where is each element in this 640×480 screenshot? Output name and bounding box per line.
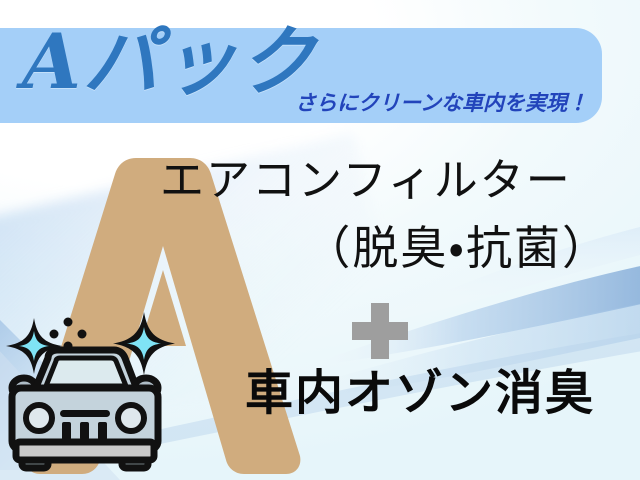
plus-icon <box>352 303 408 359</box>
plus-icon-horizontal-bar <box>352 322 408 340</box>
service-line-deodorize-antibacterial: （脱臭・抗菌） <box>160 224 610 272</box>
service-line-ozone-deodorizing: 車内オゾン消臭 <box>210 368 630 418</box>
clean-car-illustration <box>4 300 190 480</box>
service-line-air-conditioner-filter: エアコンフィルター <box>160 158 626 204</box>
poster-canvas: Aパック さらにクリーンな車内を実現！ エアコンフィルター （脱臭・抗菌） 車内… <box>0 0 640 480</box>
banner-tagline: さらにクリーンな車内を実現！ <box>295 87 588 117</box>
page-title: Aパック <box>22 24 317 100</box>
header-banner: Aパック さらにクリーンな車内を実現！ <box>0 28 602 123</box>
